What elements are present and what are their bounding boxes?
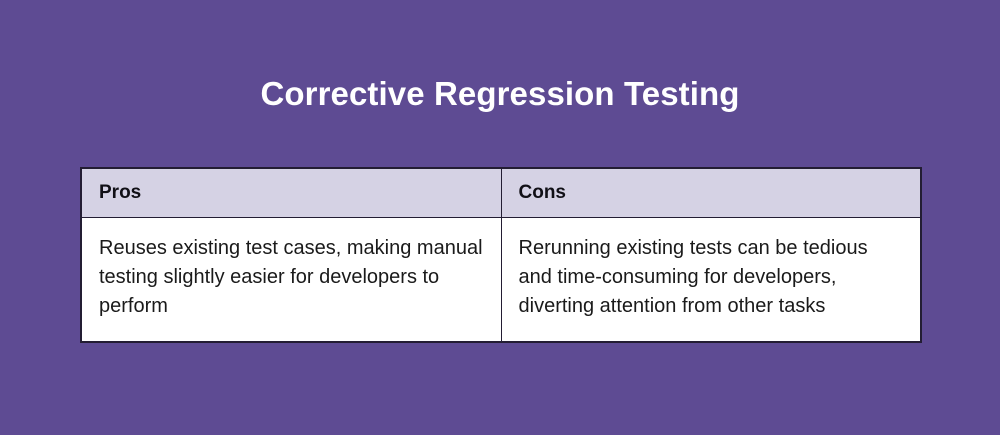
pros-cons-table-wrapper: Pros Cons Reuses existing test cases, ma… [80, 167, 920, 343]
table-header: Pros Cons [81, 168, 921, 218]
table-header-row: Pros Cons [81, 168, 921, 218]
cell-cons: Rerunning existing tests can be tedious … [501, 218, 921, 343]
cell-pros: Reuses existing test cases, making manua… [81, 218, 501, 343]
cell-pros-text: Reuses existing test cases, making manua… [99, 234, 483, 321]
slide-canvas: Corrective Regression Testing Pros Cons … [0, 0, 1000, 435]
table-row: Reuses existing test cases, making manua… [81, 218, 921, 343]
pros-cons-table: Pros Cons Reuses existing test cases, ma… [80, 167, 922, 343]
cell-cons-text: Rerunning existing tests can be tedious … [519, 234, 903, 321]
column-header-pros: Pros [81, 168, 501, 218]
column-header-cons: Cons [501, 168, 921, 218]
page-title: Corrective Regression Testing [0, 74, 1000, 114]
table-body: Reuses existing test cases, making manua… [81, 218, 921, 343]
